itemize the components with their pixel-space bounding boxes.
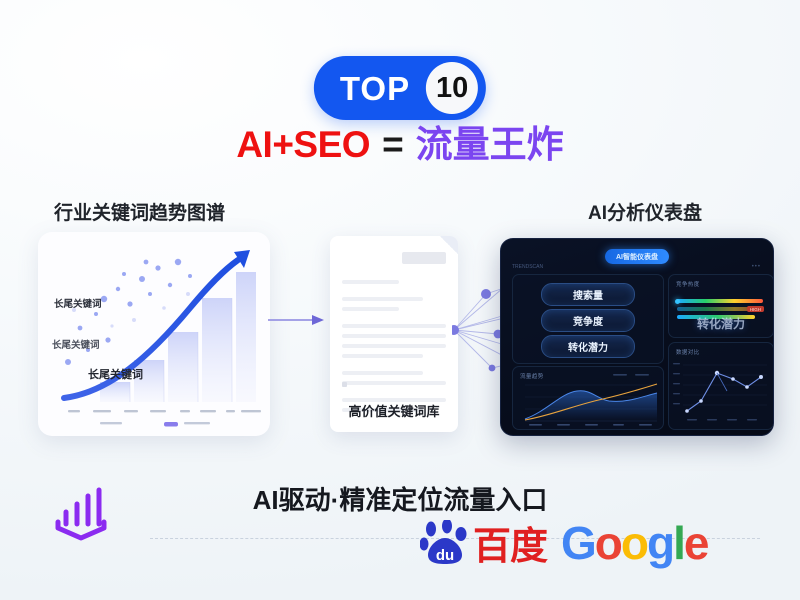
- page-title: AI+SEO=流量王炸: [0, 126, 800, 163]
- google-letter-1: G: [561, 520, 595, 566]
- baidu-logo-text: 百度: [473, 528, 547, 566]
- poster-canvas: TOP 10 AI+SEO=流量王炸 行业关键词趋势图谱 AI分析仪表盘: [0, 0, 800, 600]
- keyword-library-card: 高价值关键词库: [330, 236, 458, 432]
- traffic-trend-caption: 流量趋势: [520, 372, 544, 380]
- top-badge-word: TOP: [340, 72, 426, 105]
- dashboard-brand-label: TRENDSCAN: [512, 264, 543, 270]
- google-letter-4: g: [647, 520, 673, 566]
- top-rank-badge: TOP 10: [314, 56, 486, 120]
- gauge-indicator-dot: [675, 299, 680, 304]
- headline-equals: =: [382, 124, 404, 165]
- footer-kicker: AI驱动·精准定位流量入口: [0, 480, 800, 517]
- ai-dashboard-card: AI智能仪表盘 TRENDSCAN ••• 搜索量 竞争度 转化潜力 流量趋势: [500, 238, 774, 436]
- competition-gauge-panel: 竞争热度 HIGH 转化潜力: [668, 274, 774, 338]
- google-letter-6: e: [684, 520, 708, 566]
- doc-placeholder-lines: [342, 280, 446, 418]
- keyword-label-3: 长尾关键词: [88, 366, 143, 382]
- section-title-trend: 行业关键词趋势图谱: [54, 198, 225, 225]
- pill-search-volume[interactable]: 搜索量: [541, 283, 635, 306]
- trend-chart-svg: [38, 232, 270, 436]
- line-chart-caption: 数据对比: [676, 348, 700, 356]
- svg-text:du: du: [436, 547, 454, 564]
- gauge-bar-primary: [677, 299, 763, 303]
- headline-ai-seo: AI+SEO: [236, 124, 370, 165]
- trend-chart-card: 长尾关键词 长尾关键词 长尾关键词: [38, 232, 270, 436]
- gauge-caption: 竞争热度: [676, 280, 700, 288]
- headline-result: 流量王炸: [416, 124, 564, 165]
- data-comparison-panel: 数据对比: [668, 342, 774, 430]
- keyword-label-1: 长尾关键词: [54, 296, 102, 310]
- doc-header-chip: [402, 252, 446, 264]
- keyword-label-2: 长尾关键词: [52, 337, 100, 351]
- google-letter-2: o: [595, 520, 621, 566]
- gauge-overlay-label: 转化潜力: [669, 315, 773, 332]
- google-letter-3: o: [621, 520, 647, 566]
- top-badge-number: 10: [426, 62, 478, 114]
- search-engine-logos: du 百度 Google: [420, 520, 708, 566]
- dashboard-title-badge: AI智能仪表盘: [605, 249, 669, 264]
- google-logo: Google: [561, 520, 707, 566]
- metric-pills-panel: 搜索量 竞争度 转化潜力: [512, 274, 664, 364]
- google-letter-5: l: [673, 520, 684, 566]
- section-title-dashboard: AI分析仪表盘: [588, 198, 702, 225]
- traffic-trend-panel: 流量趋势: [512, 366, 664, 430]
- doc-bullet-icon: [342, 382, 347, 387]
- baidu-logo: du 百度: [420, 520, 547, 566]
- pill-competition[interactable]: 竞争度: [541, 309, 635, 332]
- pill-conversion[interactable]: 转化潜力: [541, 335, 635, 358]
- dashboard-menu-icon[interactable]: •••: [752, 264, 761, 270]
- flow-arrow-icon: [268, 312, 324, 328]
- gauge-status-badge: HIGH: [747, 306, 764, 312]
- doc-card-title: 高价值关键词库: [330, 401, 458, 420]
- baidu-paw-icon: du: [420, 520, 470, 566]
